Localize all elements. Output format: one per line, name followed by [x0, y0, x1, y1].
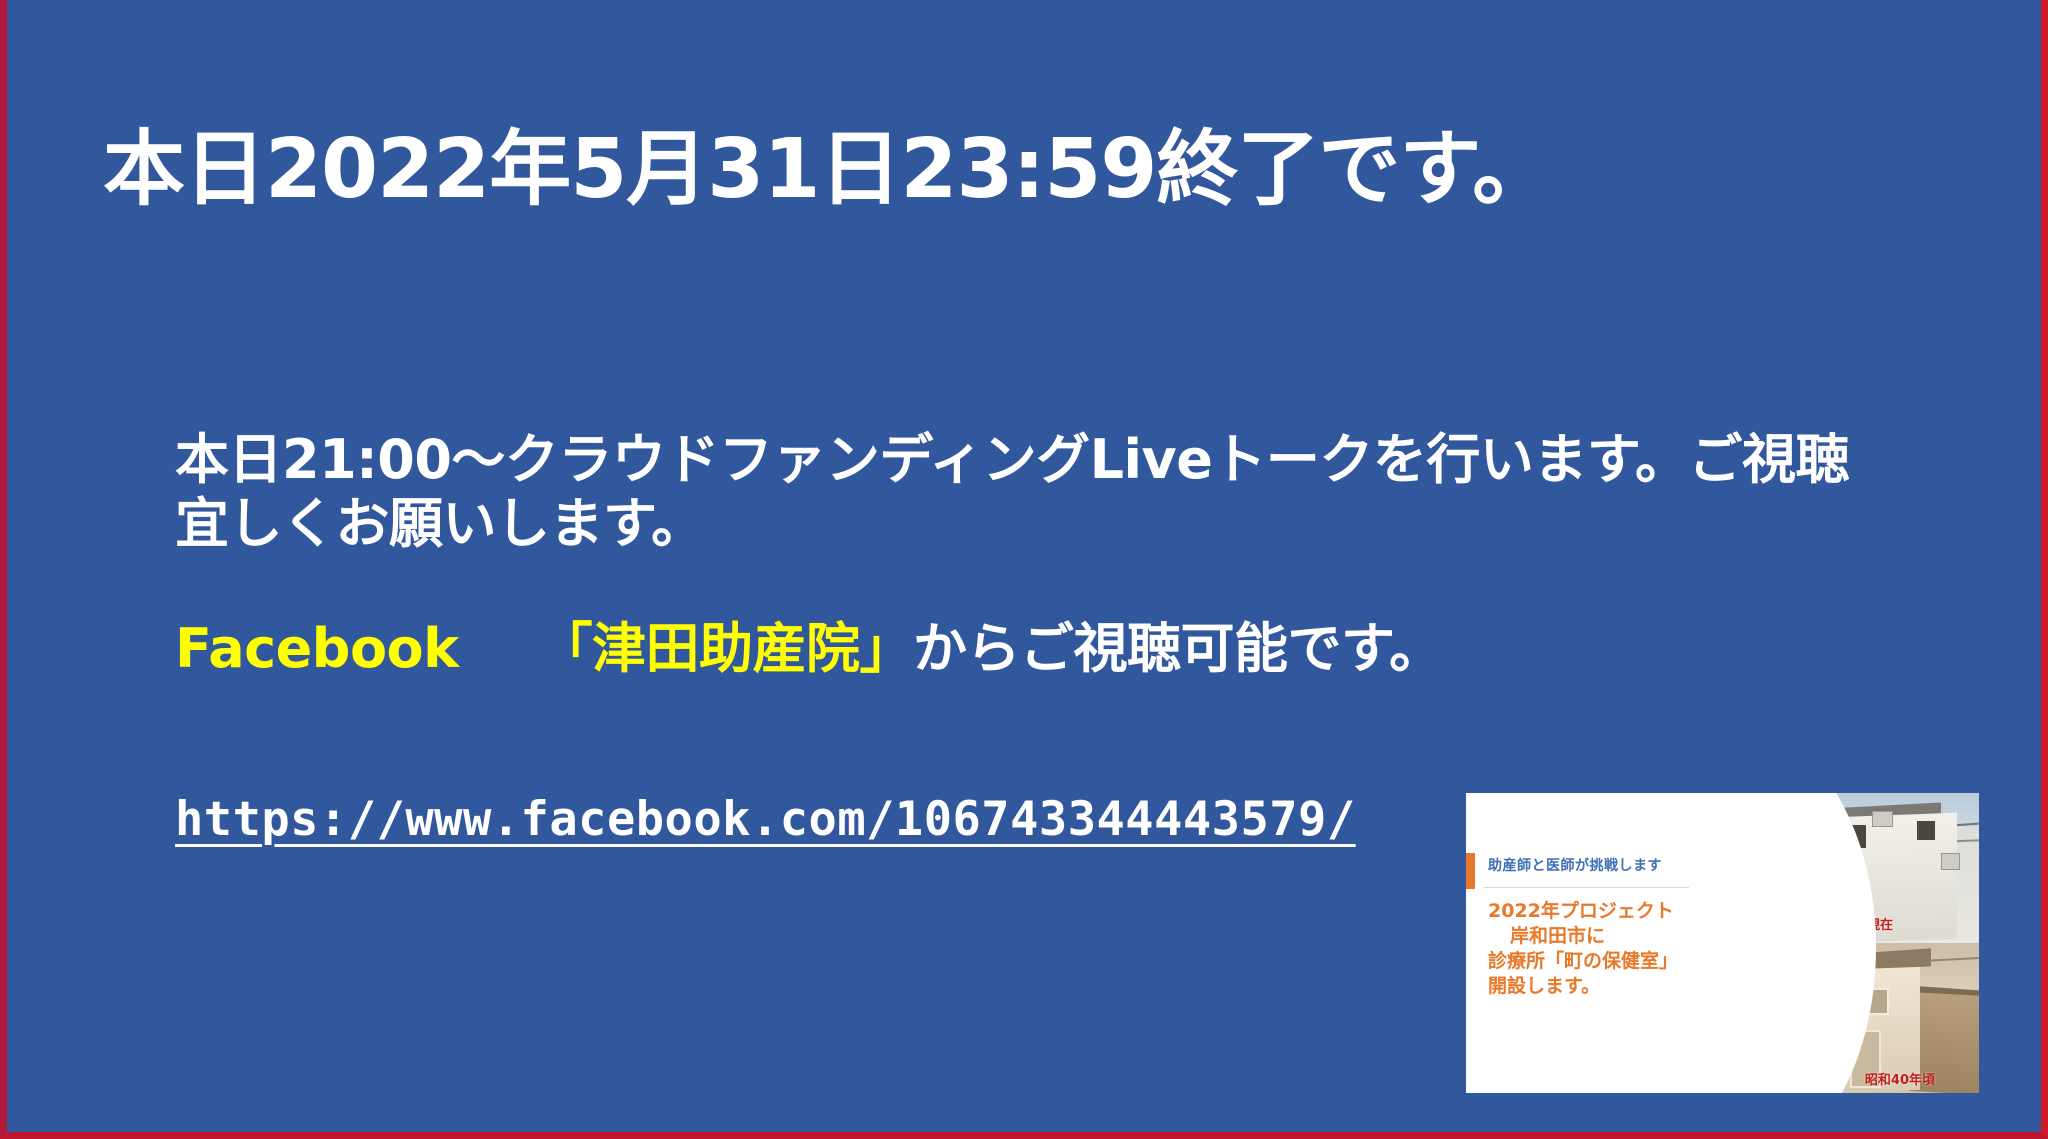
photo-label-historic: 昭和40年頃	[1865, 1069, 1935, 1088]
thumbnail-headline-line-3: 診療所「町の保健室」	[1488, 949, 1678, 974]
air-conditioner-icon	[1941, 853, 1959, 870]
announcement-paragraph: 本日21:00〜クラウドファンディングLiveトークを行います。ご視聴宜しくお願…	[175, 428, 1865, 555]
orange-accent-bar-icon	[1466, 853, 1475, 889]
window-shape	[1915, 819, 1938, 843]
slide-canvas: 本日2022年5月31日23:59終了です。 本日21:00〜クラウドファンディ…	[0, 0, 2048, 1139]
thumbnail-headline-line-1: 2022年プロジェクト	[1488, 899, 1678, 924]
air-conditioner-icon	[1872, 811, 1893, 827]
page-title: 本日2022年5月31日23:59終了です。	[103, 126, 1923, 215]
facebook-gap	[459, 617, 566, 680]
thumbnail-headline: 2022年プロジェクト 岸和田市に 診療所「町の保健室」 開設します。	[1488, 899, 1678, 999]
thumbnail-headline-line-2: 岸和田市に	[1488, 924, 1678, 949]
facebook-label: Facebook	[175, 617, 459, 680]
project-thumbnail-card: 現在 昭和40年頃	[1466, 793, 1979, 1093]
slide-body: 本日21:00〜クラウドファンディングLiveトークを行います。ご視聴宜しくお願…	[175, 428, 1875, 681]
thumbnail-headline-line-4: 開設します。	[1488, 974, 1678, 999]
facebook-url-link[interactable]: https://www.facebook.com/106743344443579…	[175, 792, 1356, 847]
facebook-tail-text: からご視聴可能です。	[913, 617, 1443, 680]
thumbnail-divider	[1484, 887, 1689, 888]
facebook-paragraph: Facebook 「津田助産院」からご視聴可能です。	[175, 617, 1875, 681]
thumbnail-caption: 助産師と医師が挑戦します	[1488, 855, 1662, 875]
clinic-name-highlight: 「津田助産院」	[566, 617, 914, 680]
